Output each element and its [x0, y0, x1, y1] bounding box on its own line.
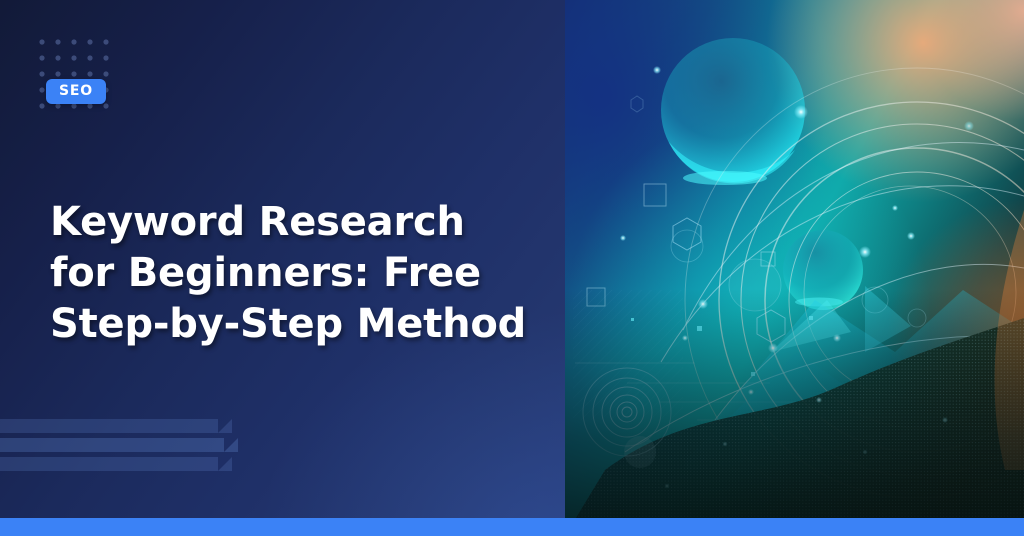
seo-blog-banner: SEO Keyword Research for Beginners: Free… [0, 0, 1024, 536]
orange-glow-edge [995, 210, 1024, 470]
stripe-3 [0, 457, 218, 471]
decorative-stripes [0, 419, 260, 483]
stripe-1 [0, 419, 218, 433]
bottom-accent-bar [0, 518, 1024, 536]
left-content-panel: SEO Keyword Research for Beginners: Free… [0, 0, 565, 536]
page-title: Keyword Research for Beginners: Free Ste… [50, 197, 540, 351]
abstract-tech-illustration [565, 0, 1024, 536]
hero-artwork-panel [565, 0, 1024, 536]
diagonal-hatch-lines [573, 290, 683, 420]
category-badge-seo[interactable]: SEO [46, 79, 106, 104]
stripe-2 [0, 438, 224, 452]
